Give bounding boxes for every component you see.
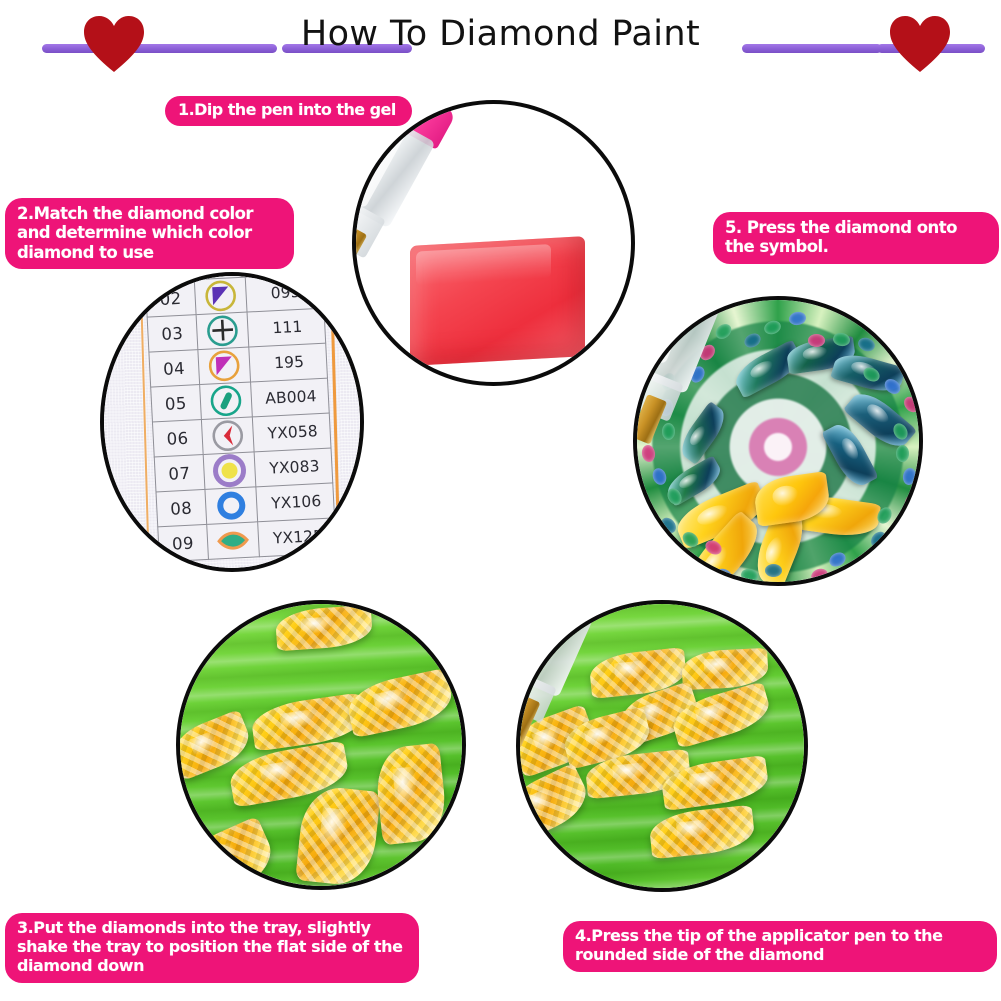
row-symbol [199,382,252,420]
row-symbol [205,487,258,525]
row-code: YX058 [252,413,331,452]
step-1-label: 1.Dip the pen into the gel [165,96,412,126]
infographic-canvas: How To Diamond Paint 1.Dip the pen into … [0,0,1001,1001]
row-number: 09 [158,524,208,561]
row-number: 05 [151,385,201,422]
color-code-table: 02002093031110419505AB00406YX05807YX0830… [144,276,337,562]
row-code: YX083 [254,448,333,487]
row-number: 04 [149,350,199,387]
page-title: How To Diamond Paint [0,14,1001,54]
step-3-photo-diamonds-in-tray [176,600,466,890]
row-number: 03 [147,315,197,352]
printed-symbol-dot [896,445,909,462]
row-symbol [194,277,247,315]
row-code: YX106 [256,483,335,522]
row-code: 111 [247,308,326,347]
step-1-photo-pen-in-gel [352,100,635,386]
step-5-label: 5. Press the diamond onto the symbol. [713,212,999,264]
row-symbol [206,522,259,560]
row-number: 07 [154,454,204,491]
row-code: AB004 [251,378,330,417]
step-3-label: 3.Put the diamonds into the tray, slight… [5,913,419,983]
gel-pad [410,236,585,366]
row-code: YX125 [258,518,337,557]
chart-paper: 02002093031110419505AB00406YX05807YX0830… [104,276,360,568]
step-5-photo-press-onto-symbol [633,296,923,586]
row-number: 02 [145,280,195,317]
row-symbol [203,452,256,490]
row-symbol [196,312,249,350]
step-4-label: 4.Press the tip of the applicator pen to… [563,921,997,972]
step-2-photo-color-chart: 02002093031110419505AB00406YX05807YX0830… [100,272,364,572]
header: How To Diamond Paint [0,0,1001,86]
step-2-label: 2.Match the diamond color and determine … [5,198,294,269]
step-4-photo-pen-presses-diamond [516,600,808,892]
row-number: 08 [156,489,206,526]
printed-symbol-dot [808,334,825,347]
row-number: 06 [152,420,202,457]
row-symbol [201,417,254,455]
table-row: 09YX125 [158,518,337,562]
row-code: 093 [245,276,324,312]
row-code: 195 [249,343,328,382]
row-symbol [197,347,250,385]
